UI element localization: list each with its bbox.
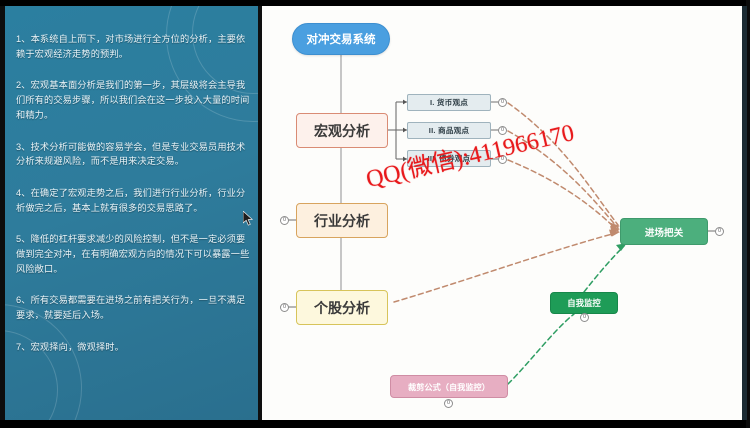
node-label: 对冲交易系统 (307, 31, 376, 47)
mindmap-node-self-monitoring[interactable]: 自我监控 (550, 292, 618, 314)
collapse-handle-commodity[interactable]: 0 (498, 126, 507, 135)
node-label: 个股分析 (314, 298, 370, 318)
collapse-handle-stock[interactable]: 0 (280, 303, 289, 312)
collapse-handle-formula[interactable]: 0 (444, 399, 453, 408)
slide-paragraph: 6、所有交易都需要在进场之前有把关行为，一旦不满足要求，就要延后入场。 (16, 293, 254, 323)
mindmap-node-trim-formula[interactable]: 裁剪公式（自我监控） (390, 375, 508, 398)
node-label: 宏观分析 (314, 121, 370, 141)
mindmap-node-stock-analysis[interactable]: 个股分析 (296, 290, 388, 325)
slide-paragraph: 1、本系统自上而下，对市场进行全方位的分析，主要依赖于宏观经济走势的预判。 (16, 32, 254, 62)
node-label: III. 债券观点 (428, 153, 471, 164)
frame-bottom-bar (0, 420, 750, 428)
collapse-handle-monitor[interactable]: 0 (580, 313, 589, 322)
mindmap-node-root[interactable]: 对冲交易系统 (292, 23, 390, 55)
node-label: 自我监控 (567, 297, 601, 309)
slide-paragraph: 2、宏观基本面分析是我们的第一步，其层级将会主导我们所有的交易步骤，所以我们会在… (16, 78, 254, 123)
collapse-handle-currency[interactable]: 0 (498, 98, 507, 107)
slide-panel: 1、本系统自上而下，对市场进行全方位的分析，主要依赖于宏观经济走势的预判。 2、… (0, 6, 262, 420)
node-label: I. 货币观点 (430, 97, 468, 108)
mindmap-node-macro-analysis[interactable]: 宏观分析 (296, 113, 388, 148)
mindmap-node-currency-view[interactable]: I. 货币观点 (407, 94, 491, 111)
slide-paragraph: 4、在确定了宏观走势之后，我们进行行业分析，行业分析做完之后，基本上就有很多的交… (16, 186, 254, 216)
collapse-handle-bond[interactable]: 0 (498, 155, 507, 164)
panel-divider (258, 6, 262, 420)
collapse-handle-industry[interactable]: 0 (280, 216, 289, 225)
mindmap-panel: 对冲交易系统 宏观分析 行业分析 个股分析 I. 货币观点 II. 商品观点 I… (262, 6, 750, 420)
mindmap-node-bond-view[interactable]: III. 债券观点 (407, 150, 491, 167)
video-frame: 1、本系统自上而下，对市场进行全方位的分析，主要依赖于宏观经济走势的预判。 2、… (0, 0, 750, 428)
frame-top-bar (0, 0, 750, 6)
node-label: II. 商品观点 (429, 125, 469, 136)
mindmap-node-industry-analysis[interactable]: 行业分析 (296, 203, 388, 238)
node-label: 裁剪公式（自我监控） (408, 381, 490, 393)
slide-paragraph: 7、宏观择向，微观择时。 (16, 340, 254, 355)
map-right-edge (742, 6, 747, 420)
slide-paragraph: 5、降低的杠杆要求减少的风险控制，但不是一定必须要做到完全对冲，在有明确宏观方向… (16, 232, 254, 277)
node-label: 行业分析 (314, 211, 370, 231)
slide-body-text: 1、本系统自上而下，对市场进行全方位的分析，主要依赖于宏观经济走势的预判。 2、… (16, 32, 254, 371)
mindmap-node-commodity-view[interactable]: II. 商品观点 (407, 122, 491, 139)
slide-paragraph: 3、技术分析可能做的容易学会，但是专业交易员用技术分析来规避风险，而不是用来决定… (16, 140, 254, 170)
mindmap-node-entry-gatekeeping[interactable]: 进场把关 (620, 218, 708, 245)
frame-left-edge (0, 6, 5, 420)
node-label: 进场把关 (645, 225, 683, 239)
collapse-handle-gate[interactable]: 0 (715, 227, 724, 236)
